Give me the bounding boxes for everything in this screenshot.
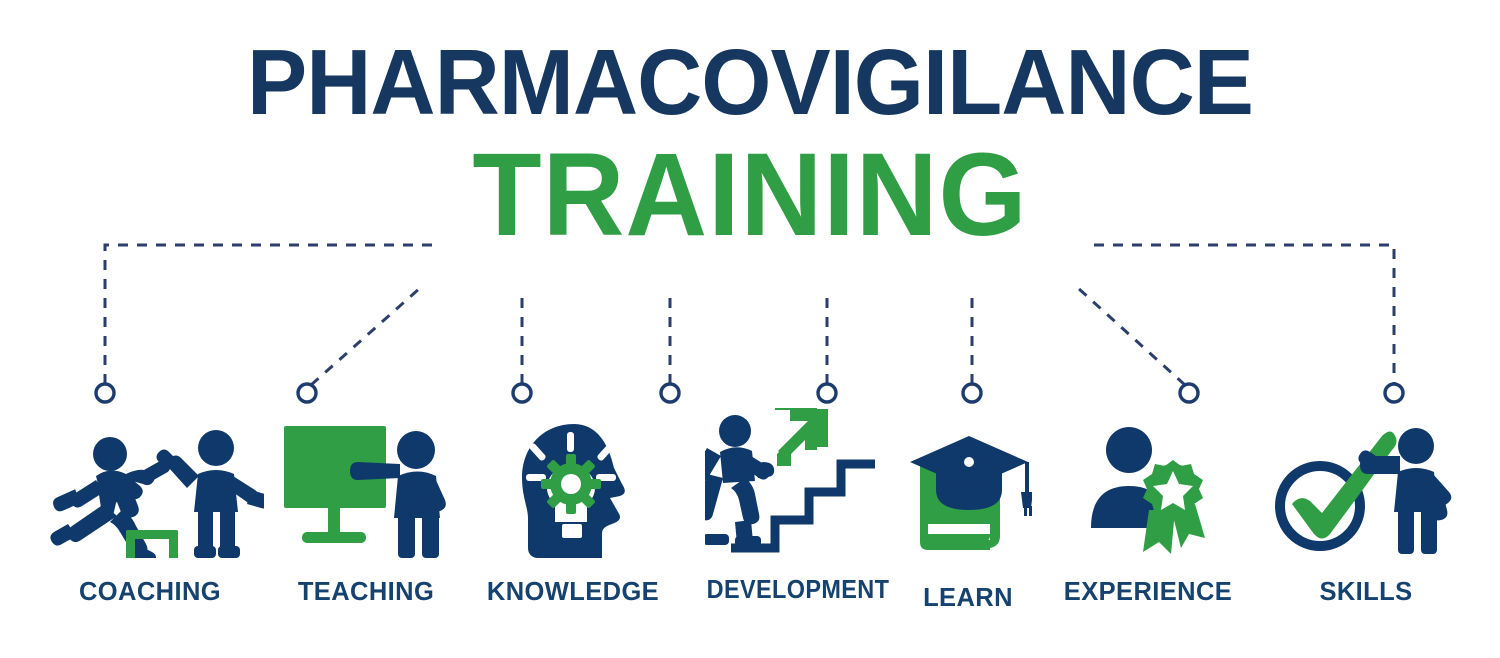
label-coaching: COACHING [79, 578, 221, 607]
connector-coaching [105, 245, 432, 384]
skills-checkmark-icon [1268, 418, 1458, 558]
label-learn: LEARN [923, 584, 1013, 613]
label-teaching: TEACHING [298, 578, 434, 607]
connector-diagram [0, 0, 1500, 658]
item-experience[interactable]: EXPERIENCE [1085, 424, 1215, 558]
coaching-hurdle-icon [48, 418, 264, 558]
experience-award-ribbon-icon [1085, 424, 1215, 558]
connector-node-coaching [96, 384, 114, 402]
knowledge-head-bulb-icon [514, 422, 644, 560]
connector-node-knowledge [513, 384, 531, 402]
item-development[interactable]: DEVELOPMENT [705, 408, 875, 558]
learn-graduation-book-icon [906, 432, 1032, 558]
connector-teaching [311, 288, 420, 385]
connector-node-learn [818, 384, 836, 402]
item-coaching[interactable]: COACHING [48, 418, 264, 558]
development-stairs-arrow-icon [705, 408, 875, 558]
teaching-whiteboard-icon [280, 420, 458, 558]
connector-skills [1078, 288, 1185, 385]
connector-node-development [661, 384, 679, 402]
item-learn[interactable]: LEARN [906, 432, 1032, 558]
connector-node-right [1385, 384, 1403, 402]
label-experience: EXPERIENCE [1064, 578, 1232, 607]
connector-node-experience [963, 384, 981, 402]
label-skills: SKILLS [1319, 578, 1412, 607]
connector-node-skills [1180, 384, 1198, 402]
connector-right-bus [1094, 245, 1394, 384]
item-skills[interactable]: SKILLS [1268, 418, 1458, 558]
label-knowledge: KNOWLEDGE [487, 578, 659, 607]
pharmacovigilance-training-banner: PHARMACOVIGILANCE TRAINING [0, 0, 1500, 658]
connector-node-teaching [298, 384, 316, 402]
item-knowledge[interactable]: KNOWLEDGE [514, 422, 644, 560]
label-development: DEVELOPMENT [707, 576, 890, 605]
item-teaching[interactable]: TEACHING [280, 420, 458, 558]
